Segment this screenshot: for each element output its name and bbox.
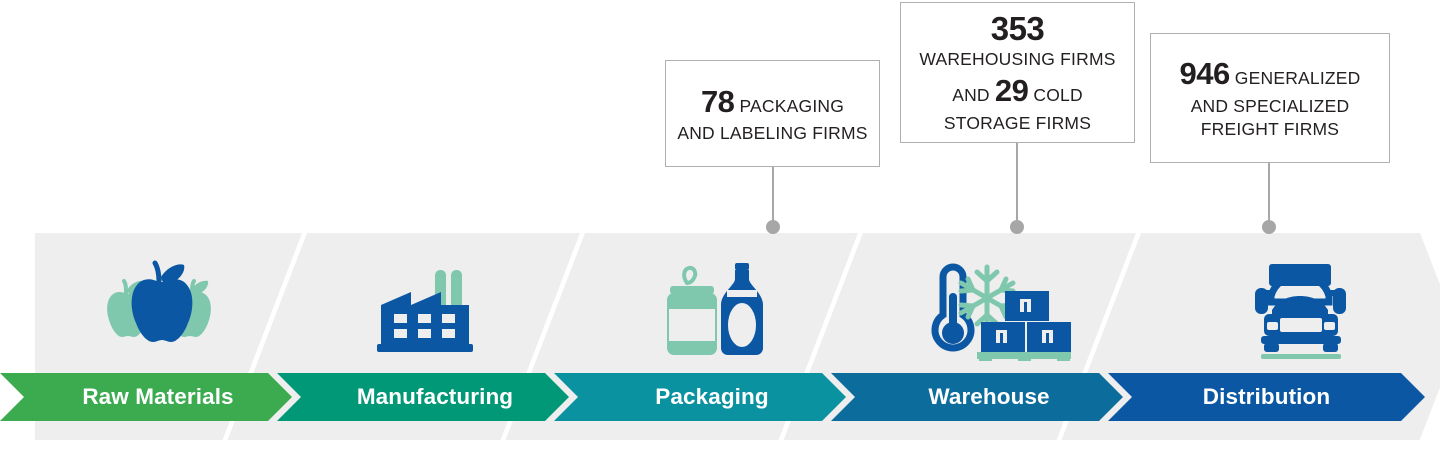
cold-storage-icon-svg <box>921 259 1071 361</box>
bottles-icon <box>626 252 806 367</box>
warehouse-callout-line4: STORAGE FIRMS <box>944 112 1091 135</box>
factory-icon <box>348 252 528 367</box>
arrow-shape-manufacturing[interactable] <box>277 373 569 421</box>
distribution-callout: 946 GENERALIZED AND SPECIALIZED FREIGHT … <box>1150 33 1390 163</box>
packaging-callout-line2: AND LABELING FIRMS <box>677 122 867 145</box>
truck-icon-svg <box>1247 260 1357 360</box>
packaging-callout-dot <box>766 220 780 234</box>
cold-storage-icon <box>906 252 1086 367</box>
warehouse-callout: 353 WAREHOUSING FIRMS AND 29 COLD STORAG… <box>900 2 1135 143</box>
apples-icon-svg <box>86 260 234 360</box>
warehouse-callout-line2: WAREHOUSING FIRMS <box>919 48 1115 71</box>
warehouse-callout-stem <box>1016 143 1018 225</box>
warehouse-callout-line3: AND 29 COLD <box>952 71 1083 112</box>
packaging-callout-number: 78 <box>701 84 734 119</box>
distribution-callout-line3: FREIGHT FIRMS <box>1201 118 1339 141</box>
distribution-callout-number: 946 <box>1180 56 1230 91</box>
process-arrow-ribbon <box>0 373 1440 421</box>
warehouse-callout-line3-pre: AND <box>952 85 990 105</box>
arrow-shape-packaging[interactable] <box>554 373 846 421</box>
distribution-callout-stem <box>1268 163 1270 225</box>
arrow-shape-raw-materials[interactable] <box>0 373 292 421</box>
warehouse-callout-line3-post: COLD <box>1033 85 1082 105</box>
distribution-callout-number-suffix: GENERALIZED <box>1235 68 1361 88</box>
warehouse-callout-number2: 29 <box>995 73 1028 108</box>
factory-icon-svg <box>373 260 503 360</box>
warehouse-callout-dot <box>1010 220 1024 234</box>
arrow-shape-warehouse[interactable] <box>831 373 1123 421</box>
distribution-callout-line2: AND SPECIALIZED <box>1191 95 1350 118</box>
packaging-callout-line1: 78 PACKAGING <box>701 82 844 123</box>
packaging-callout-number-suffix: PACKAGING <box>739 96 844 116</box>
bottles-icon-svg <box>661 259 771 361</box>
distribution-callout-line1: 946 GENERALIZED <box>1180 54 1361 95</box>
packaging-callout: 78 PACKAGING AND LABELING FIRMS <box>665 60 880 167</box>
apples-icon <box>70 252 250 367</box>
arrow-shape-distribution[interactable] <box>1108 373 1425 421</box>
distribution-callout-dot <box>1262 220 1276 234</box>
supply-chain-infographic: 78 PACKAGING AND LABELING FIRMS 353 WARE… <box>0 0 1440 450</box>
warehouse-callout-number: 353 <box>991 10 1045 48</box>
truck-icon <box>1212 252 1392 367</box>
packaging-callout-stem <box>772 167 774 225</box>
